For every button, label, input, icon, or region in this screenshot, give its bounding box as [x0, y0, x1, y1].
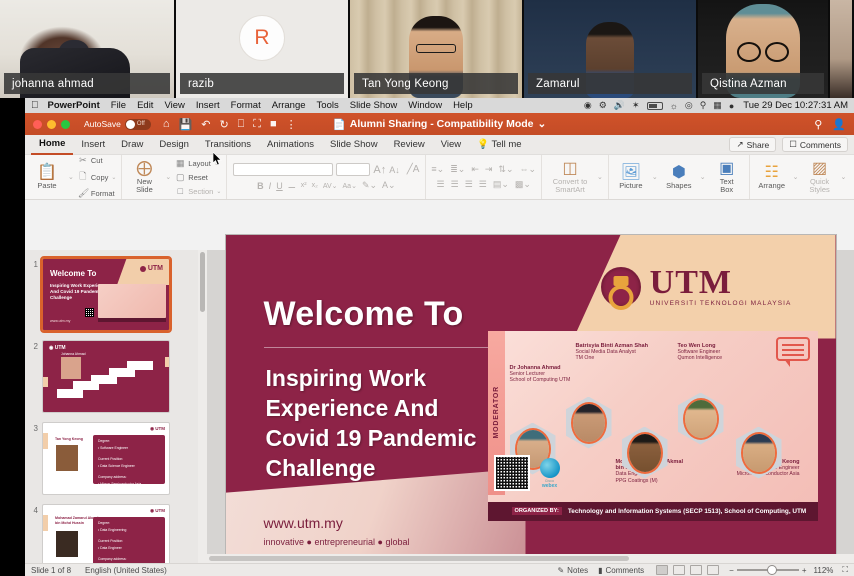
copy-button[interactable]: 🗋 Copy ⌄ [78, 169, 117, 185]
paste-label: Paste [37, 182, 56, 190]
tab-design[interactable]: Design [151, 135, 197, 154]
comments-label: Comments [605, 566, 644, 575]
notes-button[interactable]: ✎ Notes [557, 566, 588, 575]
speaker-2-photo [678, 393, 724, 445]
participant-name: Qistina Azman [702, 73, 824, 94]
utm-logo-mini: ◉ UTM [150, 508, 165, 514]
smartart-icon: ◫ [562, 161, 577, 177]
presenter-view-button[interactable] [707, 565, 719, 575]
slide-sorter-button[interactable] [673, 565, 685, 575]
text-direction-button[interactable]: ⇔⌄ [520, 164, 537, 175]
powerpoint-window:  PowerPoint File Edit View Insert Forma… [25, 98, 854, 576]
mouse-cursor [213, 152, 222, 166]
cut-button[interactable]: ✂ Cut [78, 155, 117, 166]
zoom-slider-thumb[interactable] [767, 565, 777, 575]
zoom-level: 112% [814, 566, 834, 575]
participant-name: Tan Yong Keong [354, 73, 518, 94]
menu-edit[interactable]: Edit [137, 100, 153, 111]
speaker-1-photo [566, 397, 612, 449]
menu-tools[interactable]: Tools [317, 100, 339, 111]
quick-styles-dropdown-icon[interactable]: ⌄ [841, 173, 847, 181]
tab-insert[interactable]: Insert [73, 135, 113, 154]
format-label: Format [91, 189, 115, 198]
speaker-1-org: TM One [576, 355, 656, 361]
section-button[interactable]: □ Section ⌄ [175, 186, 221, 196]
ribbon-tab-bar: Home Insert Draw Design Transitions Anim… [25, 135, 854, 155]
tell-me-search[interactable]: 💡 Tell me [469, 135, 529, 154]
bluetooth-icon[interactable]: ✶ [632, 100, 640, 111]
font-color-button[interactable]: A⌄ [382, 180, 396, 191]
chat-bubble-icon [766, 337, 810, 371]
ribbon-group-slides: ⨁ New Slide ⌄ ▦ Layout ⌄ ▢ Reset [122, 155, 227, 199]
ribbon-group-insert: 🖼 Picture ⌄ ⬢ Shapes ⌄ ▣ Text Box [609, 155, 750, 199]
siri-icon[interactable]: ◉ [584, 100, 592, 111]
line-spacing-button[interactable]: ⇅⌄ [498, 164, 513, 175]
tab-review[interactable]: Review [386, 135, 433, 154]
thumb-name: Johanna Ahmad [61, 352, 86, 356]
document-title[interactable]: Alumni Sharing - Compatibility Mode [350, 118, 534, 130]
participant-tile-2[interactable]: Tan Yong Keong [350, 0, 524, 98]
autosave-state: Off [137, 121, 145, 127]
picture-icon: 🖼 [621, 165, 641, 181]
subtitle-line-2: Experience And [266, 395, 439, 421]
slide-website: www.utm.my [264, 515, 343, 531]
participant-tile-0[interactable]: johanna ahmad [0, 0, 176, 98]
lightbulb-icon: 💡 [477, 139, 489, 150]
thumbnail-scrollbar[interactable] [198, 250, 207, 563]
copy-icon: 🗋 [78, 169, 88, 185]
change-case-button[interactable]: Aa⌄ [343, 182, 357, 190]
menu-view[interactable]: View [164, 100, 184, 111]
autosave-label: AutoSave [84, 119, 121, 129]
tab-draw[interactable]: Draw [113, 135, 151, 154]
section-dropdown-icon[interactable]: ⌄ [216, 188, 221, 195]
increase-font-size-button[interactable]: A↑ [373, 164, 386, 176]
bullets-button[interactable]: ≡⌄ [431, 164, 444, 175]
ribbon-group-paragraph: ≡⌄ ≣⌄ ⇤ ⇥ ⇅⌄ ⇔⌄ ☰ ☰ ☰ ☰ ▤⌄ ▩⌄ [426, 155, 542, 199]
chevron-down-icon[interactable]: ⌄ [538, 118, 547, 130]
title-bar-right: ⚲ 👤 [814, 118, 846, 131]
superscript-button[interactable]: x² [301, 182, 307, 189]
utm-abbr: UTM [650, 267, 792, 299]
subtitle-line-1: Inspiring Work [266, 365, 427, 391]
shapes-button[interactable]: ⬢ Shapes [662, 165, 696, 190]
participant-tile-3[interactable]: Zamarul [524, 0, 698, 98]
character-spacing-button[interactable]: AV⌄ [323, 182, 338, 190]
window-controls[interactable] [33, 120, 70, 129]
normal-view-button[interactable] [656, 565, 668, 575]
menu-slide-show[interactable]: Slide Show [350, 100, 398, 111]
mac-menu-bar:  PowerPoint File Edit View Insert Forma… [25, 98, 854, 113]
stop-icon[interactable]: ■ [270, 118, 277, 130]
reset-button[interactable]: ▢ Reset [175, 172, 221, 183]
autosave-control[interactable]: AutoSave Off [84, 119, 151, 130]
participant-video-feed [830, 0, 852, 98]
thumb-panel: Degree: • Software Engineer Current Posi… [93, 435, 165, 484]
save-icon[interactable]: 💾 [179, 118, 193, 131]
thumb-panel: Degree: • Data Engineering Current Posit… [93, 517, 165, 563]
subscript-button[interactable]: x₂ [312, 182, 318, 189]
font-size-input[interactable] [336, 163, 370, 176]
scrollbar-thumb[interactable] [200, 252, 205, 312]
convert-to-smartart-button[interactable]: ◫ Convert to SmartArt [547, 161, 593, 194]
scrollbar-thumb[interactable] [209, 556, 629, 561]
wifi-icon[interactable]: ☼ [670, 101, 678, 111]
user-account-icon[interactable]: ● [729, 101, 734, 111]
numbering-button[interactable]: ≣⌄ [450, 164, 465, 175]
shapes-icon: ⬢ [672, 165, 686, 181]
fit-to-window-icon[interactable]: ⛶ [842, 565, 848, 575]
slide-subtitle[interactable]: Inspiring Work Experience And Covid 19 P… [266, 363, 477, 483]
arrange-label: Arrange [758, 182, 785, 190]
slide-editor[interactable]: UTM UNIVERSITI TEKNOLOGI MALAYSIA Welcom… [226, 235, 836, 576]
picture-button[interactable]: 🖼 Picture [614, 165, 648, 190]
comment-icon: ☐ [789, 139, 797, 150]
slide-thumbnail-panel[interactable]: 1 UTM Welcome To Inspiring Work Experien… [25, 250, 207, 563]
menu-format[interactable]: Format [231, 100, 261, 111]
columns-button[interactable]: ▤⌄ [493, 179, 509, 190]
share-button[interactable]: ↗ Share [729, 137, 776, 152]
font-name-input[interactable] [233, 163, 333, 176]
moderator-label: MODERATOR [493, 386, 500, 438]
picture-dropdown-icon[interactable]: ⌄ [652, 173, 658, 181]
menu-powerpoint[interactable]: PowerPoint [48, 100, 100, 111]
italic-button[interactable]: I [269, 181, 272, 191]
copy-label: Copy [91, 173, 109, 182]
thumb-name: Tan Yong Keong [55, 437, 83, 441]
ribbon-toolbar: 📋 Paste ⌄ ✂ Cut 🗋 Copy ⌄ 🖌 [25, 155, 854, 200]
reading-view-button[interactable] [690, 565, 702, 575]
justify-button[interactable]: ☰ [479, 179, 487, 190]
quick-access-toolbar: ⌂ 💾 ↶ ↻ ⎕ ⛶ ■ ⋮ [163, 118, 297, 131]
quick-styles-label-2: Styles [809, 185, 829, 194]
participant-tile-partial[interactable] [830, 0, 854, 98]
organized-by-text: Technology and Information Systems (SECP… [568, 508, 806, 515]
subtitle-line-4: Challenge [266, 455, 376, 481]
align-text-button[interactable]: ▩⌄ [515, 179, 531, 190]
thumb-url: www.utm.my [50, 319, 70, 323]
decrease-indent-button[interactable]: ⇤ [471, 164, 479, 175]
section-icon: □ [175, 186, 185, 196]
increase-indent-button[interactable]: ⇥ [485, 164, 493, 175]
participant-name: Zamarul [528, 73, 692, 94]
paste-dropdown-icon[interactable]: ⌄ [68, 173, 74, 181]
thumbnail-item-3[interactable]: 3 ◉ UTM Tan Yong Keong Degree: • Softwar… [25, 418, 207, 500]
window-title-bar: AutoSave Off ⌂ 💾 ↶ ↻ ⎕ ⛶ ■ ⋮ 📄 Alumni Sh… [25, 113, 854, 135]
new-slide-label-2: Slide [136, 185, 153, 194]
tab-transitions[interactable]: Transitions [197, 135, 259, 154]
quick-styles-button[interactable]: ▨ Quick Styles [803, 161, 837, 194]
video-conference-strip: johanna ahmad R razib Tan Yong Keong Zam… [0, 0, 854, 98]
utm-logo-mini: UTM [140, 265, 163, 272]
more-options-icon[interactable]: ⋮ [286, 118, 297, 131]
layout-icon: ▦ [175, 158, 185, 169]
notes-icon: ✎ [557, 566, 564, 575]
minimize-button[interactable] [47, 120, 56, 129]
text-box-icon: ▣ [719, 161, 734, 177]
zoom-out-button[interactable]: − [729, 566, 734, 575]
align-center-button[interactable]: ☰ [451, 179, 459, 190]
textbox-label-2: Box [720, 185, 733, 194]
new-slide-button[interactable]: ⨁ New Slide [127, 161, 161, 194]
redo-icon[interactable]: ↻ [219, 118, 228, 131]
organized-by-label: ORGANIZED BY: [512, 507, 562, 515]
slide-counter: Slide 1 of 8 [31, 566, 71, 575]
copy-dropdown-icon[interactable]: ⌄ [111, 174, 116, 181]
smartart-label-2: SmartArt [555, 185, 585, 194]
thumbnail-preview[interactable]: ◉ UTM Johanna Ahmad [42, 340, 170, 413]
comment-icon: ▮ [598, 566, 602, 575]
layout-label: Layout [188, 159, 211, 168]
align-right-button[interactable]: ☰ [465, 179, 473, 190]
search-icon[interactable]: ⚲ [814, 118, 822, 131]
quick-styles-icon: ▨ [812, 161, 827, 177]
menu-window[interactable]: Window [408, 100, 442, 111]
thumbnail-number: 4 [29, 504, 42, 515]
arrange-button[interactable]: ☷ Arrange [755, 165, 789, 190]
slide-tagline: innovative ● entrepreneurial ● global [264, 537, 410, 547]
close-button[interactable] [33, 120, 42, 129]
arrange-dropdown-icon[interactable]: ⌄ [793, 173, 799, 181]
comments-label: Comments [800, 140, 841, 150]
align-left-button[interactable]: ☰ [437, 179, 445, 190]
bold-button[interactable]: B [257, 181, 264, 191]
apple-logo-icon[interactable]:  [31, 100, 39, 111]
menu-arrange[interactable]: Arrange [272, 100, 306, 111]
shapes-label: Shapes [666, 182, 691, 190]
battery-icon[interactable] [647, 101, 663, 111]
section-label: Section [188, 187, 213, 196]
menu-help[interactable]: Help [453, 100, 473, 111]
view-switcher [656, 565, 719, 575]
menu-file[interactable]: File [111, 100, 126, 111]
workspace: 1 UTM Welcome To Inspiring Work Experien… [25, 250, 854, 563]
dropbox-icon[interactable]: ⚙ [599, 100, 607, 111]
slide-title[interactable]: Welcome To [264, 295, 464, 334]
shapes-dropdown-icon[interactable]: ⌄ [700, 173, 706, 181]
share-label: Share [747, 140, 770, 150]
spotlight-search-icon[interactable]: ⚲ [700, 100, 707, 111]
cut-label: Cut [91, 156, 103, 165]
language-indicator[interactable]: English (United States) [85, 566, 167, 575]
participant-tile-4[interactable]: Qistina Azman [698, 0, 830, 98]
utm-logo-mini: ◉ UTM [49, 345, 66, 351]
share-icon: ↗ [736, 139, 743, 150]
arrange-icon: ☷ [765, 165, 779, 181]
tab-home[interactable]: Home [31, 134, 73, 155]
new-slide-dropdown-icon[interactable]: ⌄ [165, 173, 171, 181]
document-icon: 📄 [333, 118, 346, 131]
document-title-group: 📄 Alumni Sharing - Compatibility Mode ⌄ [333, 118, 547, 131]
speaker-3-org: PPG Coatings (M) [616, 478, 688, 484]
thumbnail-item-4[interactable]: 4 ◉ UTM Mohamad Zamarul Akmal bin Mohd H… [25, 500, 207, 563]
present-icon[interactable]: ⛶ [253, 118, 261, 131]
maximize-button[interactable] [61, 120, 70, 129]
tab-view[interactable]: View [433, 135, 469, 154]
paintbrush-icon: 🖌 [78, 188, 88, 199]
organized-by-banner: ORGANIZED BY: Technology and Information… [488, 502, 818, 521]
paste-icon: 📋 [37, 165, 57, 181]
scissors-icon: ✂ [78, 155, 88, 166]
speaker-0-info: Dr Johanna Ahmad Senior Lecturer School … [510, 365, 574, 384]
speaker-0-org: School of Computing UTM [510, 377, 574, 383]
menubar-clock[interactable]: Tue 29 Dec 10:27:31 AM [743, 100, 848, 111]
undo-icon[interactable]: ↶ [201, 118, 210, 131]
reset-icon: ▢ [175, 172, 185, 183]
participant-name: razib [180, 73, 344, 94]
strikethrough-button[interactable]: ⚊ [288, 180, 296, 191]
tab-slide-show[interactable]: Slide Show [322, 135, 386, 154]
thumbnail-number: 3 [29, 422, 42, 433]
thumbnail-item-1[interactable]: 1 UTM Welcome To Inspiring Work Experien… [25, 254, 207, 336]
thumb-title: Welcome To [50, 269, 96, 278]
picture-label: Picture [619, 182, 642, 190]
status-bar: Slide 1 of 8 English (United States) ✎ N… [25, 563, 854, 576]
volume-icon[interactable]: 🔊 [614, 100, 625, 111]
ribbon-group-smartart: ◫ Convert to SmartArt ⌄ [542, 155, 609, 199]
text-highlight-button[interactable]: ✎⌄ [362, 180, 377, 191]
text-box-button[interactable]: ▣ Text Box [710, 161, 744, 194]
speakers-photo-card[interactable]: MODERATOR Dr Johanna Ahmad Senior Lectur… [488, 331, 818, 521]
format-painter-button[interactable]: 🖌 Format [78, 188, 117, 199]
subtitle-line-3: Covid 19 Pandemic [266, 425, 477, 451]
utm-full-name: UNIVERSITI TEKNOLOGI MALAYSIA [650, 300, 792, 307]
print-icon[interactable]: ⎕ [238, 118, 245, 131]
webex-brand: webex [542, 483, 557, 489]
reset-label: Reset [188, 173, 208, 182]
notes-label: Notes [567, 566, 588, 575]
thumbnail-number: 2 [29, 340, 42, 351]
speaker-1-info: Batrisyia Binti Azman Shah Social Media … [576, 343, 656, 362]
control-center-icon[interactable]: ◎ [685, 100, 693, 111]
tab-animations[interactable]: Animations [259, 135, 322, 154]
webex-logo: Cisco webex [540, 458, 560, 489]
zoom-in-button[interactable]: + [802, 566, 807, 575]
horizontal-scrollbar[interactable] [207, 554, 854, 563]
participant-tile-1[interactable]: R razib [176, 0, 350, 98]
comments-button[interactable]: ☐ Comments [782, 137, 848, 152]
ribbon-group-clipboard: 📋 Paste ⌄ ✂ Cut 🗋 Copy ⌄ 🖌 [25, 155, 122, 199]
speaker-2-info: Teo Wen Long Software Engineer Qumon Int… [678, 343, 750, 362]
slide-canvas-area[interactable]: UTM UNIVERSITI TEKNOLOGI MALAYSIA Welcom… [207, 250, 854, 563]
smartart-dropdown-icon[interactable]: ⌄ [597, 173, 603, 181]
thumbnail-number: 1 [29, 258, 42, 269]
paste-button[interactable]: 📋 Paste [30, 165, 64, 190]
clear-formatting-button[interactable]: ╱A [407, 164, 420, 175]
new-slide-icon: ⨁ [136, 161, 152, 177]
participant-name: johanna ahmad [4, 73, 170, 94]
decrease-font-size-button[interactable]: A↓ [389, 165, 400, 175]
underline-button[interactable]: U [276, 181, 283, 191]
menu-insert[interactable]: Insert [196, 100, 220, 111]
utm-logo: UTM UNIVERSITI TEKNOLOGI MALAYSIA [601, 267, 792, 307]
thumbnail-preview[interactable]: UTM Welcome To Inspiring Work Experience… [42, 258, 170, 331]
thumbnail-preview[interactable]: ◉ UTM Mohamad Zamarul Akmal bin Mohd Hus… [42, 504, 170, 563]
tell-me-label: Tell me [491, 139, 521, 150]
ribbon-group-font: A↑ A↓ ╱A B I U ⚊ x² x₂ AV⌄ Aa⌄ ✎⌄ A⌄ [227, 155, 426, 199]
display-icon[interactable]: ▦ [713, 100, 722, 111]
zoom-control[interactable]: − + 112% ⛶ [729, 565, 848, 575]
qr-code [494, 455, 530, 491]
utm-seal-icon [601, 267, 641, 307]
speaker-1-name: Batrisyia Binti Azman Shah [576, 343, 656, 349]
comments-button-status[interactable]: ▮ Comments [598, 566, 644, 575]
speaker-2-org: Qumon Intelligence [678, 355, 750, 361]
zoom-slider-track[interactable] [737, 569, 799, 571]
ribbon-group-drawing: ☷ Arrange ⌄ ▨ Quick Styles ⌄ ◇ Shape Fil… [750, 155, 854, 199]
avatar: R [239, 15, 285, 61]
utm-logo-mini: ◉ UTM [150, 426, 165, 432]
webex-icon [540, 458, 560, 478]
autosave-toggle[interactable]: Off [125, 119, 151, 130]
home-icon[interactable]: ⌂ [163, 118, 170, 130]
account-icon[interactable]: 👤 [832, 118, 846, 131]
thumbnail-item-2[interactable]: 2 ◉ UTM Johanna Ahmad [25, 336, 207, 418]
thumbnail-preview[interactable]: ◉ UTM Tan Yong Keong Degree: • Software … [42, 422, 170, 495]
